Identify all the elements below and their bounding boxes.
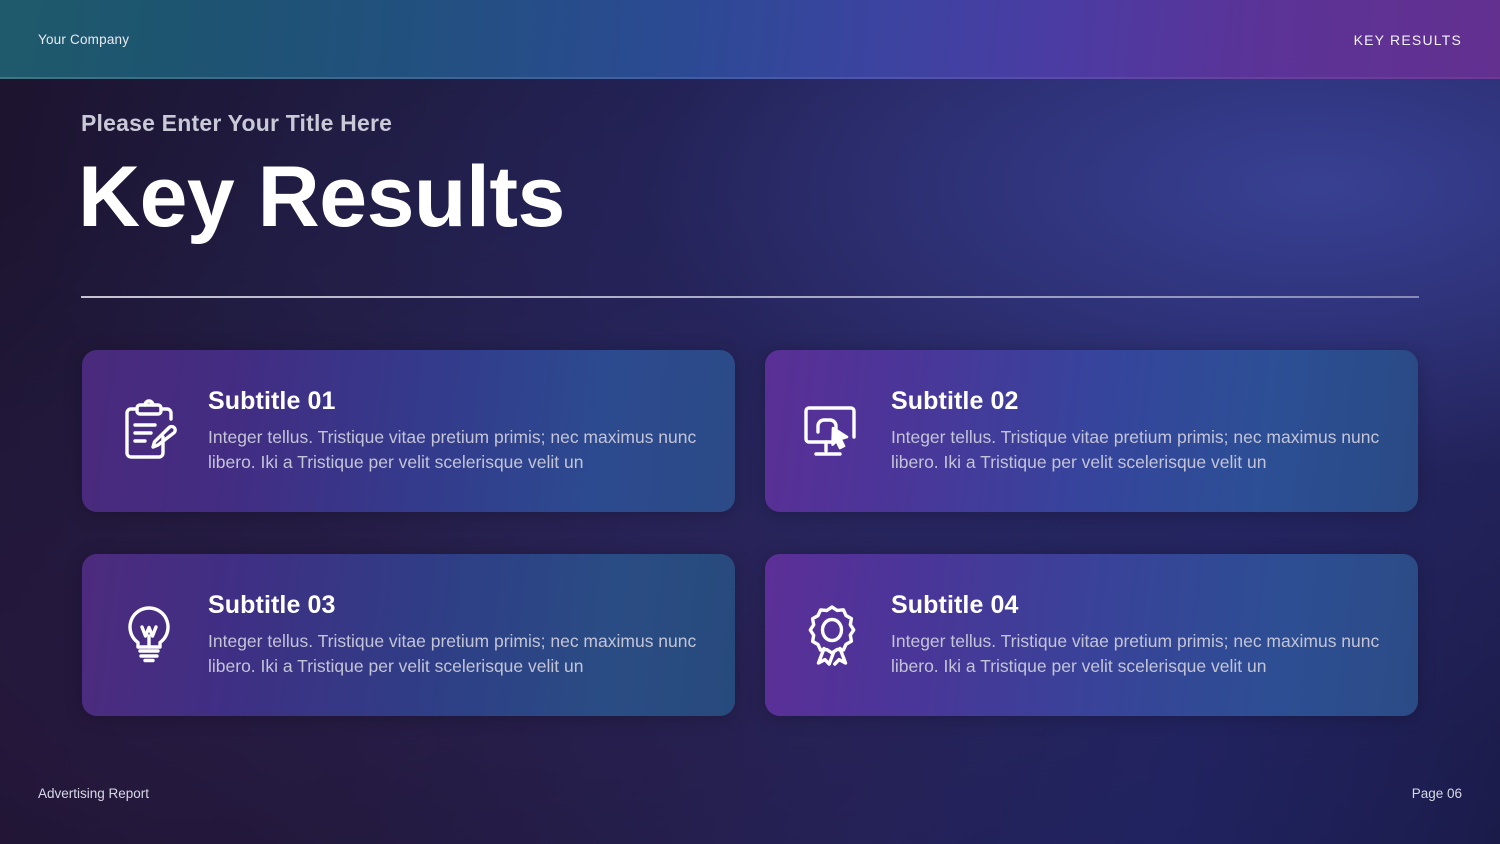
- footer-document-label: Advertising Report: [38, 786, 149, 801]
- card-description: Integer tellus. Tristique vitae pretium …: [208, 425, 698, 476]
- key-result-card-2[interactable]: Subtitle 02 Integer tellus. Tristique vi…: [765, 350, 1418, 512]
- award-ribbon-icon: [795, 598, 869, 672]
- monitor-cursor-icon: [795, 394, 869, 468]
- key-results-card-grid: Subtitle 01 Integer tellus. Tristique vi…: [82, 350, 1418, 716]
- slide-header: Your Company KEY RESULTS: [0, 0, 1500, 79]
- slide-key-results: Your Company KEY RESULTS Please Enter Yo…: [0, 0, 1500, 844]
- section-tag: KEY RESULTS: [1354, 32, 1462, 48]
- card-title: Subtitle 03: [208, 591, 709, 620]
- card-description: Integer tellus. Tristique vitae pretium …: [891, 425, 1381, 476]
- eyebrow-title: Please Enter Your Title Here: [81, 110, 392, 137]
- card-title: Subtitle 04: [891, 591, 1392, 620]
- card-text-block: Subtitle 04 Integer tellus. Tristique vi…: [891, 591, 1392, 680]
- card-text-block: Subtitle 02 Integer tellus. Tristique vi…: [891, 387, 1392, 476]
- card-text-block: Subtitle 03 Integer tellus. Tristique vi…: [208, 591, 709, 680]
- company-name: Your Company: [38, 32, 129, 47]
- footer-page-number: Page 06: [1412, 786, 1462, 801]
- key-result-card-1[interactable]: Subtitle 01 Integer tellus. Tristique vi…: [82, 350, 735, 512]
- card-title: Subtitle 02: [891, 387, 1392, 416]
- key-result-card-4[interactable]: Subtitle 04 Integer tellus. Tristique vi…: [765, 554, 1418, 716]
- clipboard-pencil-icon: [112, 394, 186, 468]
- card-title: Subtitle 01: [208, 387, 709, 416]
- lightbulb-icon: [112, 598, 186, 672]
- title-divider: [81, 296, 1419, 298]
- card-description: Integer tellus. Tristique vitae pretium …: [891, 629, 1381, 680]
- key-result-card-3[interactable]: Subtitle 03 Integer tellus. Tristique vi…: [82, 554, 735, 716]
- card-description: Integer tellus. Tristique vitae pretium …: [208, 629, 698, 680]
- page-title: Key Results: [78, 152, 565, 242]
- card-text-block: Subtitle 01 Integer tellus. Tristique vi…: [208, 387, 709, 476]
